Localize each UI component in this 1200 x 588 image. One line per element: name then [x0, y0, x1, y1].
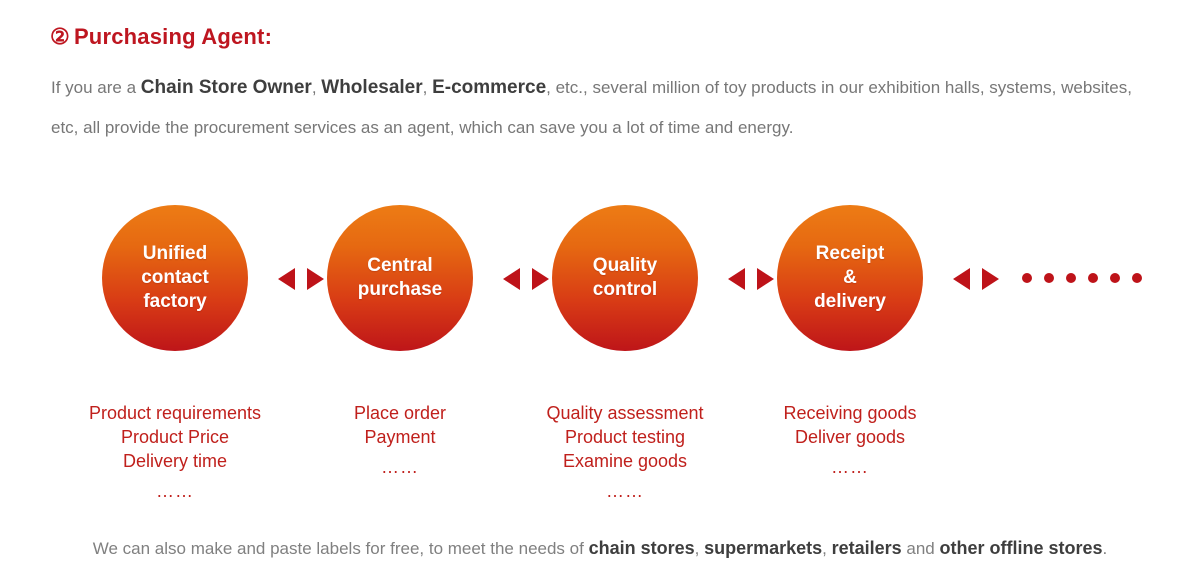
flow-circle-label-4: Receipt & delivery	[808, 242, 892, 314]
footer-term-other-offline-stores: other offline stores	[939, 538, 1102, 558]
dot-icon	[1066, 273, 1076, 283]
intro-role-ecommerce: E-commerce	[432, 77, 546, 98]
flow-connector-2	[503, 267, 549, 291]
footer-sep-1: ,	[695, 539, 704, 558]
intro-role-chain-store-owner: Chain Store Owner	[141, 77, 312, 98]
flow-caption-dots-2: ……	[270, 455, 530, 479]
arrow-left-icon	[503, 268, 520, 290]
flow-caption-text-2: Place order Payment	[354, 403, 446, 447]
footer-term-supermarkets: supermarkets	[704, 538, 822, 558]
dot-icon	[1044, 273, 1054, 283]
flow-caption-text-4: Receiving goods Deliver goods	[783, 403, 916, 447]
footer-conj: and	[902, 539, 940, 558]
page-title-text: Purchasing Agent:	[74, 24, 272, 49]
flow-caption-text-3: Quality assessment Product testing Exami…	[546, 403, 703, 471]
flow-circle-1[interactable]: Unified contact factory	[102, 205, 248, 351]
flow-circle-label-2: Central purchase	[352, 254, 448, 302]
intro-sep-2: ,	[423, 78, 432, 97]
flow-circle-4[interactable]: Receipt & delivery	[777, 205, 923, 351]
dot-icon	[1088, 273, 1098, 283]
arrow-left-icon	[953, 268, 970, 290]
arrow-right-icon	[757, 268, 774, 290]
footer-term-chain-stores: chain stores	[589, 538, 695, 558]
intro-lead: If you are a	[51, 78, 141, 97]
footer-sep-2: ,	[822, 539, 831, 558]
footer-term-retailers: retailers	[832, 538, 902, 558]
flow-caption-4: Receiving goods Deliver goods ……	[720, 377, 980, 503]
purchasing-flow-diagram: Unified contact factory Product requirem…	[0, 205, 1200, 505]
intro-paragraph: If you are a Chain Store Owner, Wholesal…	[51, 68, 1151, 148]
flow-circle-label-1: Unified contact factory	[135, 242, 215, 314]
flow-circle-label-3: Quality control	[587, 254, 663, 302]
dot-icon	[1132, 273, 1142, 283]
dot-icon	[1022, 273, 1032, 283]
arrow-left-icon	[278, 268, 295, 290]
flow-caption-dots-1: ……	[45, 479, 305, 503]
intro-sep-1: ,	[312, 78, 321, 97]
flow-connector-4	[953, 267, 999, 291]
footer-note: We can also make and paste labels for fr…	[0, 538, 1200, 559]
flow-caption-3: Quality assessment Product testing Exami…	[495, 377, 755, 527]
flow-node-3[interactable]: Quality control Quality assessment Produ…	[552, 205, 698, 527]
footer-tail: .	[1103, 539, 1108, 558]
arrow-right-icon	[982, 268, 999, 290]
flow-circle-3[interactable]: Quality control	[552, 205, 698, 351]
flow-trailing-dots	[1022, 273, 1142, 283]
flow-caption-1: Product requirements Product Price Deliv…	[45, 377, 305, 527]
arrow-right-icon	[307, 268, 324, 290]
footer-lead: We can also make and paste labels for fr…	[93, 539, 589, 558]
flow-caption-text-1: Product requirements Product Price Deliv…	[89, 403, 261, 471]
dot-icon	[1110, 273, 1120, 283]
flow-caption-dots-3: ……	[495, 479, 755, 503]
section-number-icon: ②	[50, 24, 70, 49]
flow-node-2[interactable]: Central purchase Place order Payment ……	[327, 205, 473, 503]
flow-node-1[interactable]: Unified contact factory Product requirem…	[102, 205, 248, 527]
flow-connector-3	[728, 267, 774, 291]
flow-caption-2: Place order Payment ……	[270, 377, 530, 503]
arrow-left-icon	[728, 268, 745, 290]
arrow-right-icon	[532, 268, 549, 290]
page-title: ②Purchasing Agent:	[50, 24, 272, 50]
flow-circle-2[interactable]: Central purchase	[327, 205, 473, 351]
intro-role-wholesaler: Wholesaler	[321, 77, 422, 98]
flow-connector-1	[278, 267, 324, 291]
flow-caption-dots-4: ……	[720, 455, 980, 479]
flow-node-4[interactable]: Receipt & delivery Receiving goods Deliv…	[777, 205, 923, 503]
